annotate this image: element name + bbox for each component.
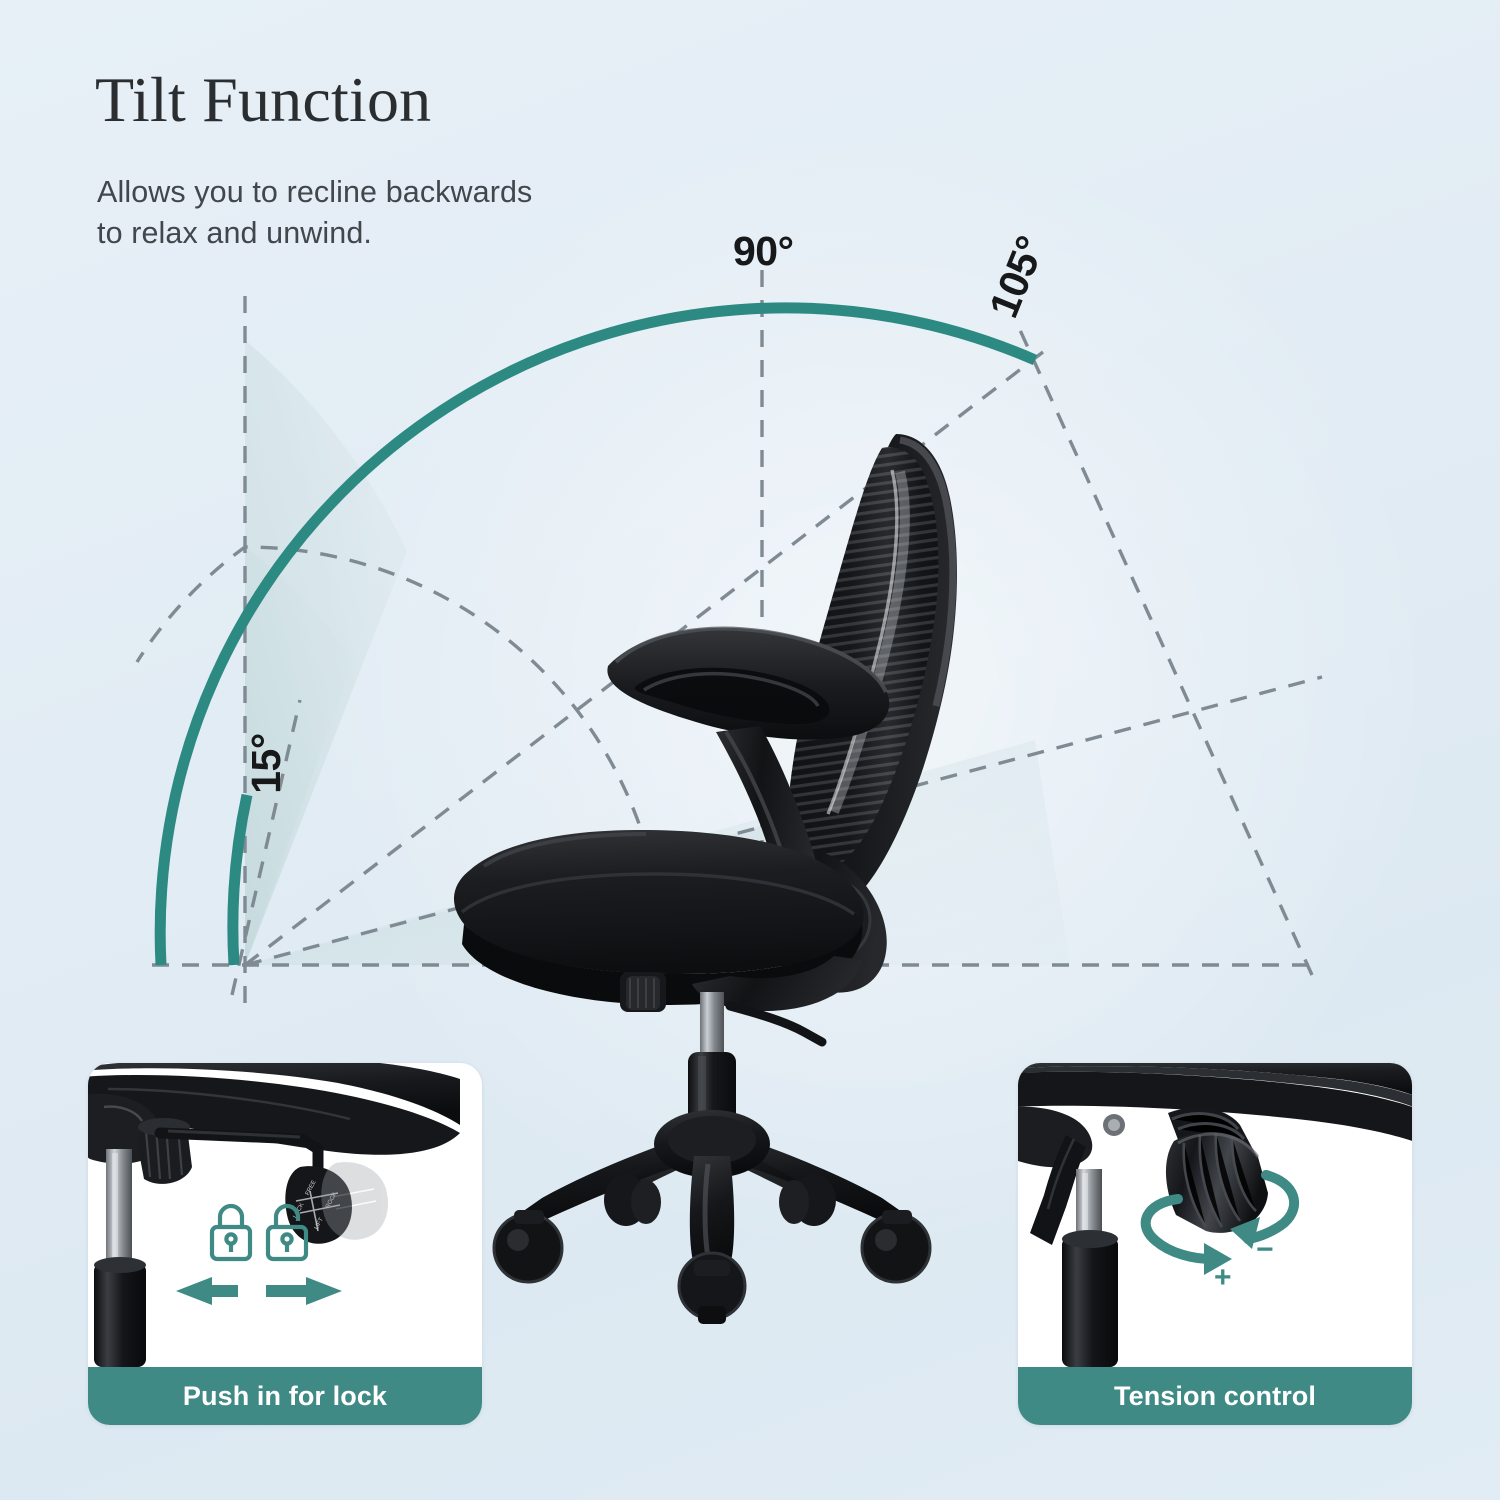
gas-cylinder-specular [112,1153,118,1263]
inset-photo-tension-knob: + − [1018,1063,1412,1367]
inset-panel-tension-control[interactable]: + − Tension control [1018,1063,1412,1425]
arrow-left-icon [176,1277,238,1305]
product-image-office-chair [430,400,1070,1300]
tension-increase-label: + [1214,1261,1232,1294]
height-adjust-lever [730,1006,822,1042]
gas-cylinder-collar [94,1257,146,1273]
gas-cylinder-collar [1062,1230,1118,1248]
gas-cylinder-housing [94,1263,146,1367]
inset-caption-push-in-for-lock: Push in for lock [88,1367,482,1425]
angle-label-90: 90° [733,228,794,275]
mechanism-screw-head [1108,1119,1120,1131]
lock-mechanism-illustration: LOCK FREE LIFT ROCK [88,1063,482,1367]
chair-illustration [430,400,1070,1300]
gas-cylinder-housing [1062,1237,1118,1367]
inset-caption-tension-control: Tension control [1018,1367,1412,1425]
tension-knob-small [620,972,666,1012]
tension-knob[interactable] [1166,1132,1268,1233]
tilt-lock-paddle-ghost [321,1162,388,1240]
tension-knob-illustration: + − [1018,1063,1412,1367]
chair-base-star [521,1110,903,1272]
arrow-right-icon [266,1277,342,1305]
gas-cylinder-shaft [106,1149,132,1267]
inset-panel-push-in-for-lock[interactable]: LOCK FREE LIFT ROCK [88,1063,482,1425]
inset-photo-lock-mechanism: LOCK FREE LIFT ROCK [88,1063,482,1367]
infographic-canvas: Tilt Function Allows you to recline back… [0,0,1500,1500]
gas-cylinder-specular [1082,1173,1088,1239]
angle-label-15: 15° [243,733,290,794]
padlock-closed-icon [212,1206,250,1259]
tension-decrease-label: − [1256,1233,1274,1266]
